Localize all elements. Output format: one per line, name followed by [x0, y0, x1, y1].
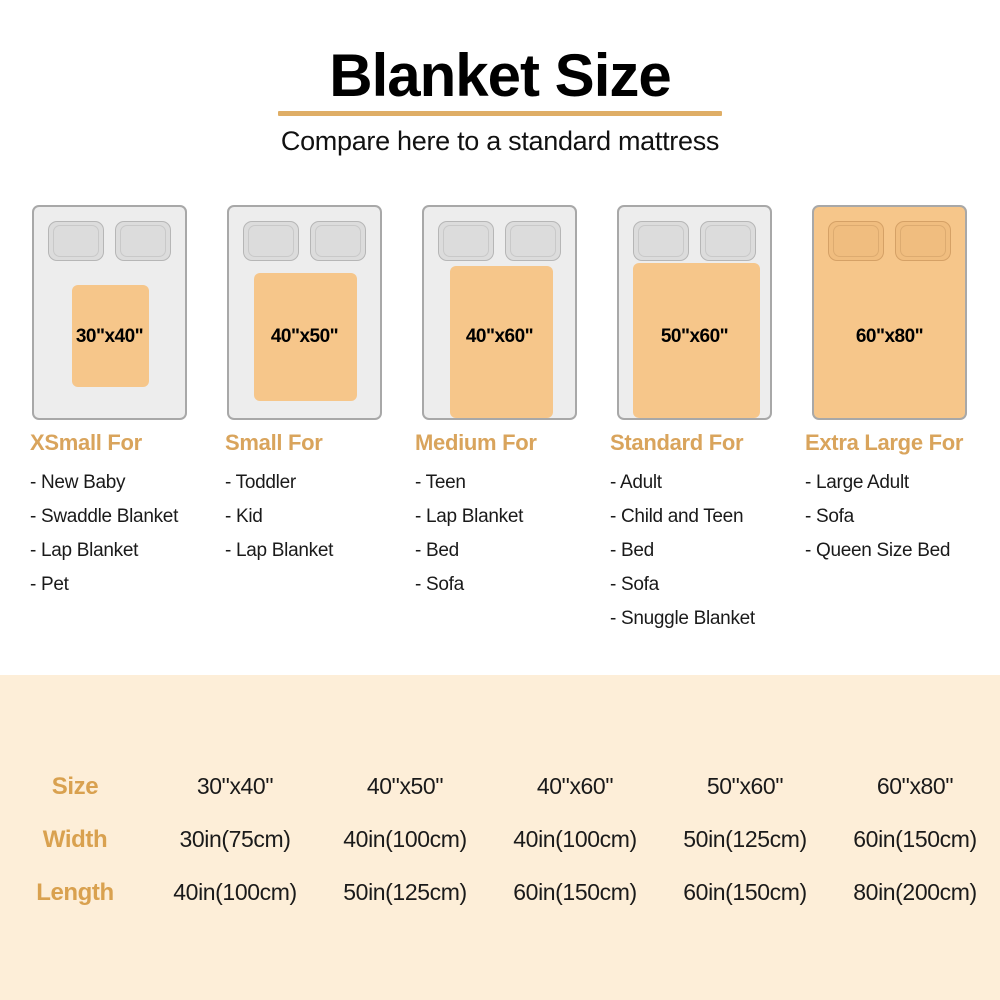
usage-columns-row: XSmall For - New Baby - Swaddle Blanket …	[0, 430, 1000, 660]
table-row: Length 40in(100cm) 50in(125cm) 60in(150c…	[0, 866, 1000, 919]
size-table-panel: Size 30"x40" 40"x50" 40"x60" 50"x60" 60"…	[0, 675, 1000, 1000]
table-row: Width 30in(75cm) 40in(100cm) 40in(100cm)…	[0, 813, 1000, 866]
list-item: - Lap Blanket	[415, 500, 620, 534]
list-item: - Lap Blanket	[30, 534, 235, 568]
column-heading-xsmall: XSmall For	[30, 430, 235, 456]
title-underline-rule	[278, 111, 722, 116]
column-heading-standard: Standard For	[610, 430, 815, 456]
usage-list-xsmall: - New Baby - Swaddle Blanket - Lap Blank…	[30, 466, 235, 602]
row-label-length: Length	[0, 866, 150, 919]
pillow-icon	[895, 221, 951, 261]
column-heading-medium: Medium For	[415, 430, 620, 456]
pillow-icon	[633, 221, 689, 261]
list-item: - Adult	[610, 466, 815, 500]
table-cell: 60in(150cm)	[830, 813, 1000, 866]
bed-diagram-small: 40"x50"	[227, 205, 382, 420]
list-item: - Lap Blanket	[225, 534, 430, 568]
table-cell: 30"x40"	[150, 760, 320, 813]
blanket-dimension-label: 40"x60"	[424, 326, 575, 348]
pillow-icon	[243, 221, 299, 261]
pillow-icon	[115, 221, 171, 261]
list-item: - Kid	[225, 500, 430, 534]
mattress-xsmall: 30"x40"	[32, 205, 187, 420]
list-item: - Pet	[30, 568, 235, 602]
table-cell: 40"x60"	[490, 760, 660, 813]
table-cell: 50in(125cm)	[660, 813, 830, 866]
usage-column-medium: Medium For - Teen - Lap Blanket - Bed - …	[415, 430, 620, 602]
list-item: - New Baby	[30, 466, 235, 500]
size-table: Size 30"x40" 40"x50" 40"x60" 50"x60" 60"…	[0, 760, 1000, 919]
list-item: - Sofa	[805, 500, 1000, 534]
bed-diagram-xsmall: 30"x40"	[32, 205, 187, 420]
list-item: - Bed	[610, 534, 815, 568]
mattress-xlarge: 60"x80"	[812, 205, 967, 420]
bed-diagram-standard: 50"x60"	[617, 205, 772, 420]
table-cell: 80in(200cm)	[830, 866, 1000, 919]
table-cell: 60in(150cm)	[490, 866, 660, 919]
pillow-icon	[310, 221, 366, 261]
page-title: Blanket Size	[0, 44, 1000, 107]
mattress-small: 40"x50"	[227, 205, 382, 420]
usage-list-standard: - Adult - Child and Teen - Bed - Sofa - …	[610, 466, 815, 636]
header: Blanket Size Compare here to a standard …	[0, 0, 1000, 157]
list-item: - Teen	[415, 466, 620, 500]
list-item: - Large Adult	[805, 466, 1000, 500]
usage-list-medium: - Teen - Lap Blanket - Bed - Sofa	[415, 466, 620, 602]
pillow-icon	[438, 221, 494, 261]
bed-diagram-xlarge: 60"x80"	[812, 205, 967, 420]
table-cell: 60in(150cm)	[660, 866, 830, 919]
table-cell: 50in(125cm)	[320, 866, 490, 919]
usage-list-small: - Toddler - Kid - Lap Blanket	[225, 466, 430, 568]
list-item: - Sofa	[415, 568, 620, 602]
pillow-icon	[48, 221, 104, 261]
table-cell: 30in(75cm)	[150, 813, 320, 866]
pillow-icon	[700, 221, 756, 261]
pillow-icon	[828, 221, 884, 261]
mattress-medium: 40"x60"	[422, 205, 577, 420]
pillow-icon	[505, 221, 561, 261]
blanket-dimension-label: 40"x50"	[229, 326, 380, 348]
row-label-size: Size	[0, 760, 150, 813]
table-cell: 40in(100cm)	[320, 813, 490, 866]
row-label-width: Width	[0, 813, 150, 866]
table-cell: 60"x80"	[830, 760, 1000, 813]
table-cell: 40in(100cm)	[490, 813, 660, 866]
list-item: - Swaddle Blanket	[30, 500, 235, 534]
usage-column-standard: Standard For - Adult - Child and Teen - …	[610, 430, 815, 636]
blanket-dimension-label: 50"x60"	[619, 326, 770, 348]
column-heading-small: Small For	[225, 430, 430, 456]
mattress-standard: 50"x60"	[617, 205, 772, 420]
blanket-dimension-label: 30"x40"	[34, 326, 185, 348]
usage-column-small: Small For - Toddler - Kid - Lap Blanket	[225, 430, 430, 568]
list-item: - Toddler	[225, 466, 430, 500]
table-cell: 40"x50"	[320, 760, 490, 813]
bed-diagrams-row: 30"x40" 40"x50" 40"x60" 50"x60"	[0, 205, 1000, 420]
table-cell: 40in(100cm)	[150, 866, 320, 919]
column-heading-xlarge: Extra Large For	[805, 430, 1000, 456]
list-item: - Child and Teen	[610, 500, 815, 534]
table-cell: 50"x60"	[660, 760, 830, 813]
usage-column-xsmall: XSmall For - New Baby - Swaddle Blanket …	[30, 430, 235, 602]
page-subtitle: Compare here to a standard mattress	[0, 126, 1000, 157]
blanket-dimension-label: 60"x80"	[814, 326, 965, 348]
list-item: - Snuggle Blanket	[610, 602, 815, 636]
list-item: - Queen Size Bed	[805, 534, 1000, 568]
usage-column-xlarge: Extra Large For - Large Adult - Sofa - Q…	[805, 430, 1000, 568]
list-item: - Sofa	[610, 568, 815, 602]
bed-diagram-medium: 40"x60"	[422, 205, 577, 420]
list-item: - Bed	[415, 534, 620, 568]
usage-list-xlarge: - Large Adult - Sofa - Queen Size Bed	[805, 466, 1000, 568]
table-row: Size 30"x40" 40"x50" 40"x60" 50"x60" 60"…	[0, 760, 1000, 813]
